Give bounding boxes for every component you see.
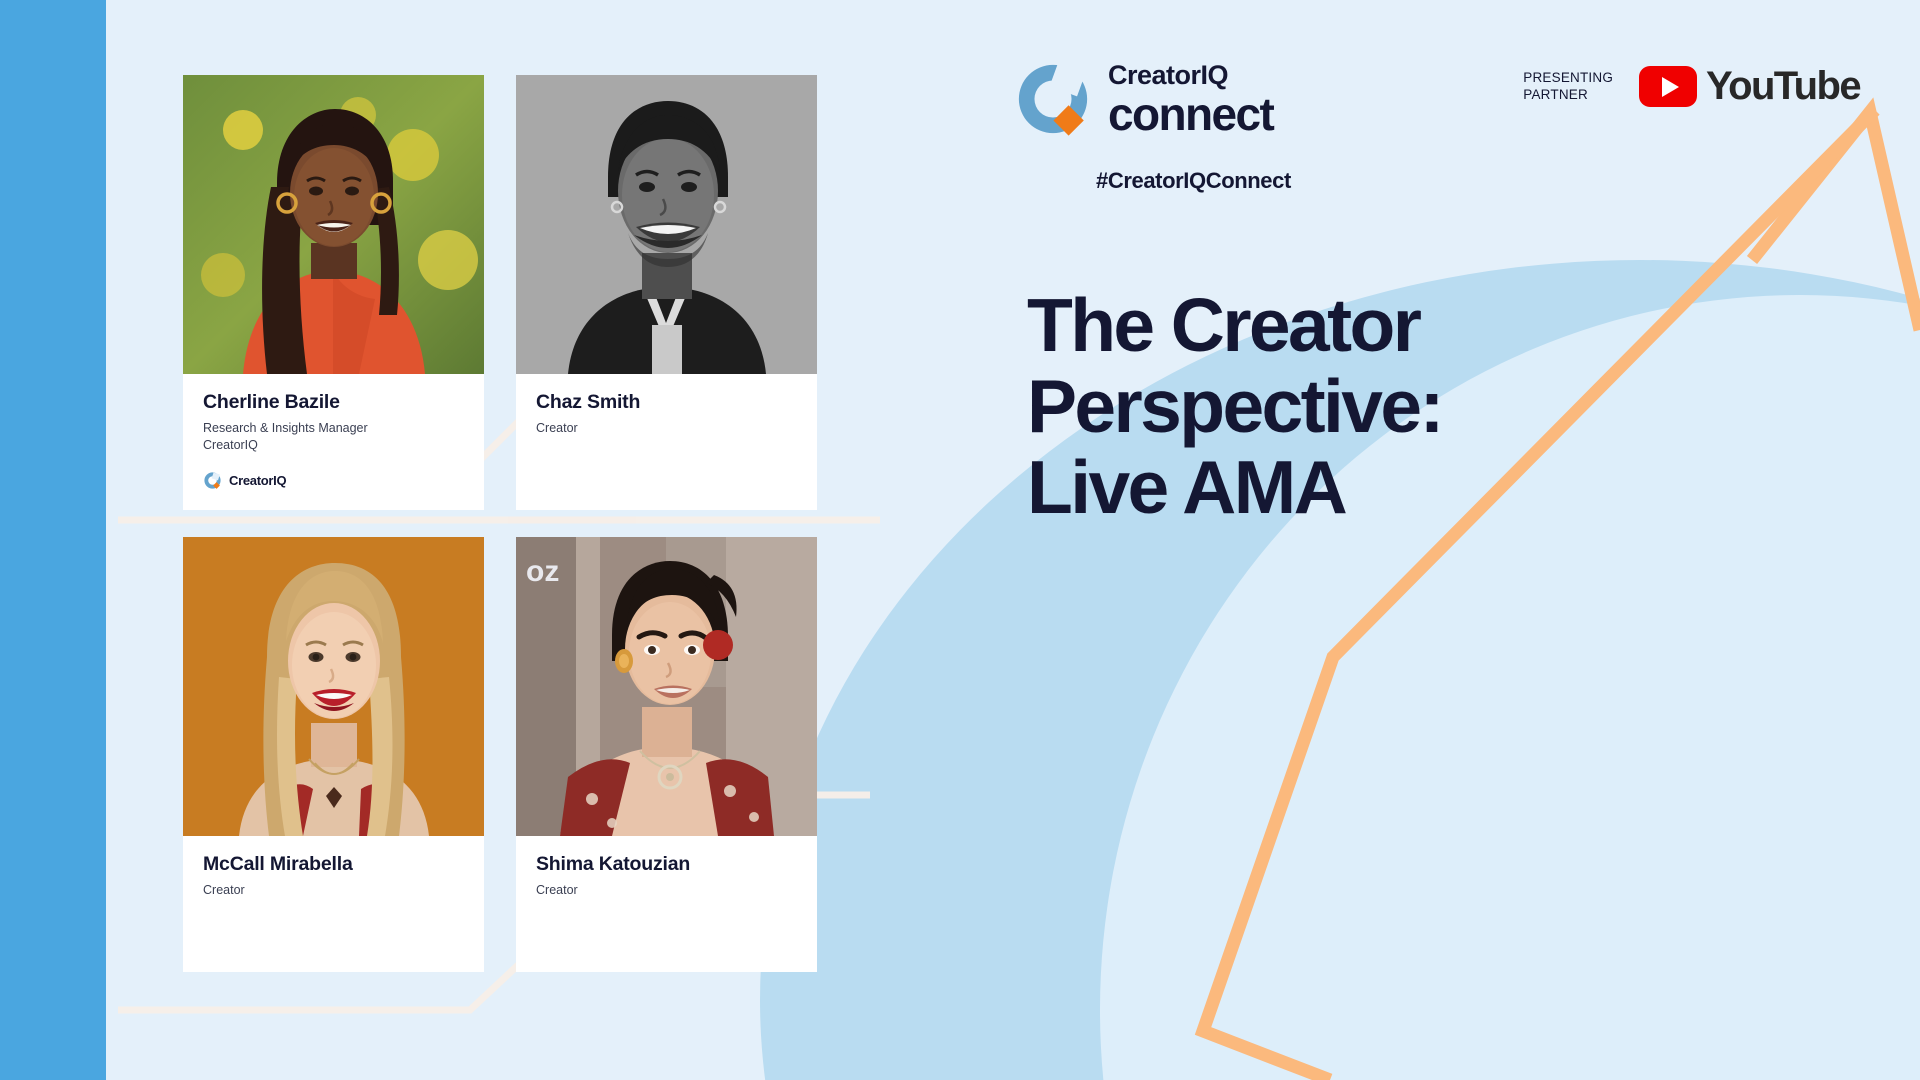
speaker-role: Research & Insights Manager CreatorIQ: [203, 420, 464, 454]
speaker-photo: oz: [516, 537, 817, 836]
speaker-role-line1: Creator: [536, 421, 578, 435]
speaker-grid: Cherline Bazile Research & Insights Mana…: [183, 75, 818, 972]
portrait-cherline-bazile: [183, 75, 484, 374]
speaker-role-line2: CreatorIQ: [203, 438, 258, 452]
youtube-play-icon: [1639, 66, 1697, 107]
presenting-partner: PRESENTING PARTNER YouTube: [1523, 64, 1860, 109]
brand-name-connect: connect: [1108, 91, 1273, 137]
company-logo-text: CreatorIQ: [229, 473, 286, 488]
creatoriq-mark-icon: [203, 471, 222, 490]
speaker-name: Cherline Bazile: [203, 391, 464, 413]
speaker-card[interactable]: Cherline Bazile Research & Insights Mana…: [183, 75, 484, 510]
speaker-role: Creator: [203, 882, 464, 899]
speaker-name: McCall Mirabella: [203, 853, 464, 875]
partner-label-line1: PRESENTING: [1523, 70, 1613, 85]
speaker-name: Shima Katouzian: [536, 853, 797, 875]
speaker-role: Creator: [536, 420, 797, 437]
event-hashtag: #CreatorIQConnect: [1096, 168, 1291, 194]
speaker-role-line1: Creator: [203, 883, 245, 897]
slide-canvas: Cherline Bazile Research & Insights Mana…: [0, 0, 1920, 1080]
portrait-shima-katouzian: oz: [516, 537, 817, 836]
title-line-1: The Creator: [1027, 283, 1419, 367]
left-blue-stripe: [0, 0, 106, 1080]
speaker-card[interactable]: oz: [516, 537, 817, 972]
speaker-card[interactable]: McCall Mirabella Creator: [183, 537, 484, 972]
brand-name-creatoriq: CreatorIQ: [1108, 62, 1273, 89]
speaker-role-line1: Research & Insights Manager: [203, 421, 368, 435]
youtube-wordmark: YouTube: [1706, 64, 1860, 109]
speaker-photo: [516, 75, 817, 374]
presenting-partner-label: PRESENTING PARTNER: [1523, 70, 1613, 104]
speaker-photo: [183, 537, 484, 836]
partner-label-line2: PARTNER: [1523, 87, 1588, 102]
speaker-photo: [183, 75, 484, 374]
portrait-chaz-smith: [516, 75, 817, 374]
portrait-mccall-mirabella: [183, 537, 484, 836]
creatoriq-mark-icon: [1014, 60, 1092, 138]
speaker-name: Chaz Smith: [536, 391, 797, 413]
company-logo: CreatorIQ: [203, 471, 464, 490]
title-line-2: Perspective:: [1027, 364, 1442, 448]
speaker-card[interactable]: Chaz Smith Creator: [516, 75, 817, 510]
speaker-role: Creator: [536, 882, 797, 899]
creatoriq-connect-logo: CreatorIQ connect: [1014, 60, 1273, 138]
speaker-role-line1: Creator: [536, 883, 578, 897]
youtube-logo: YouTube: [1639, 64, 1860, 109]
photo-watermark: oz: [526, 555, 559, 588]
title-line-3: Live AMA: [1027, 445, 1345, 529]
session-title: The Creator Perspective: Live AMA: [1027, 285, 1707, 528]
